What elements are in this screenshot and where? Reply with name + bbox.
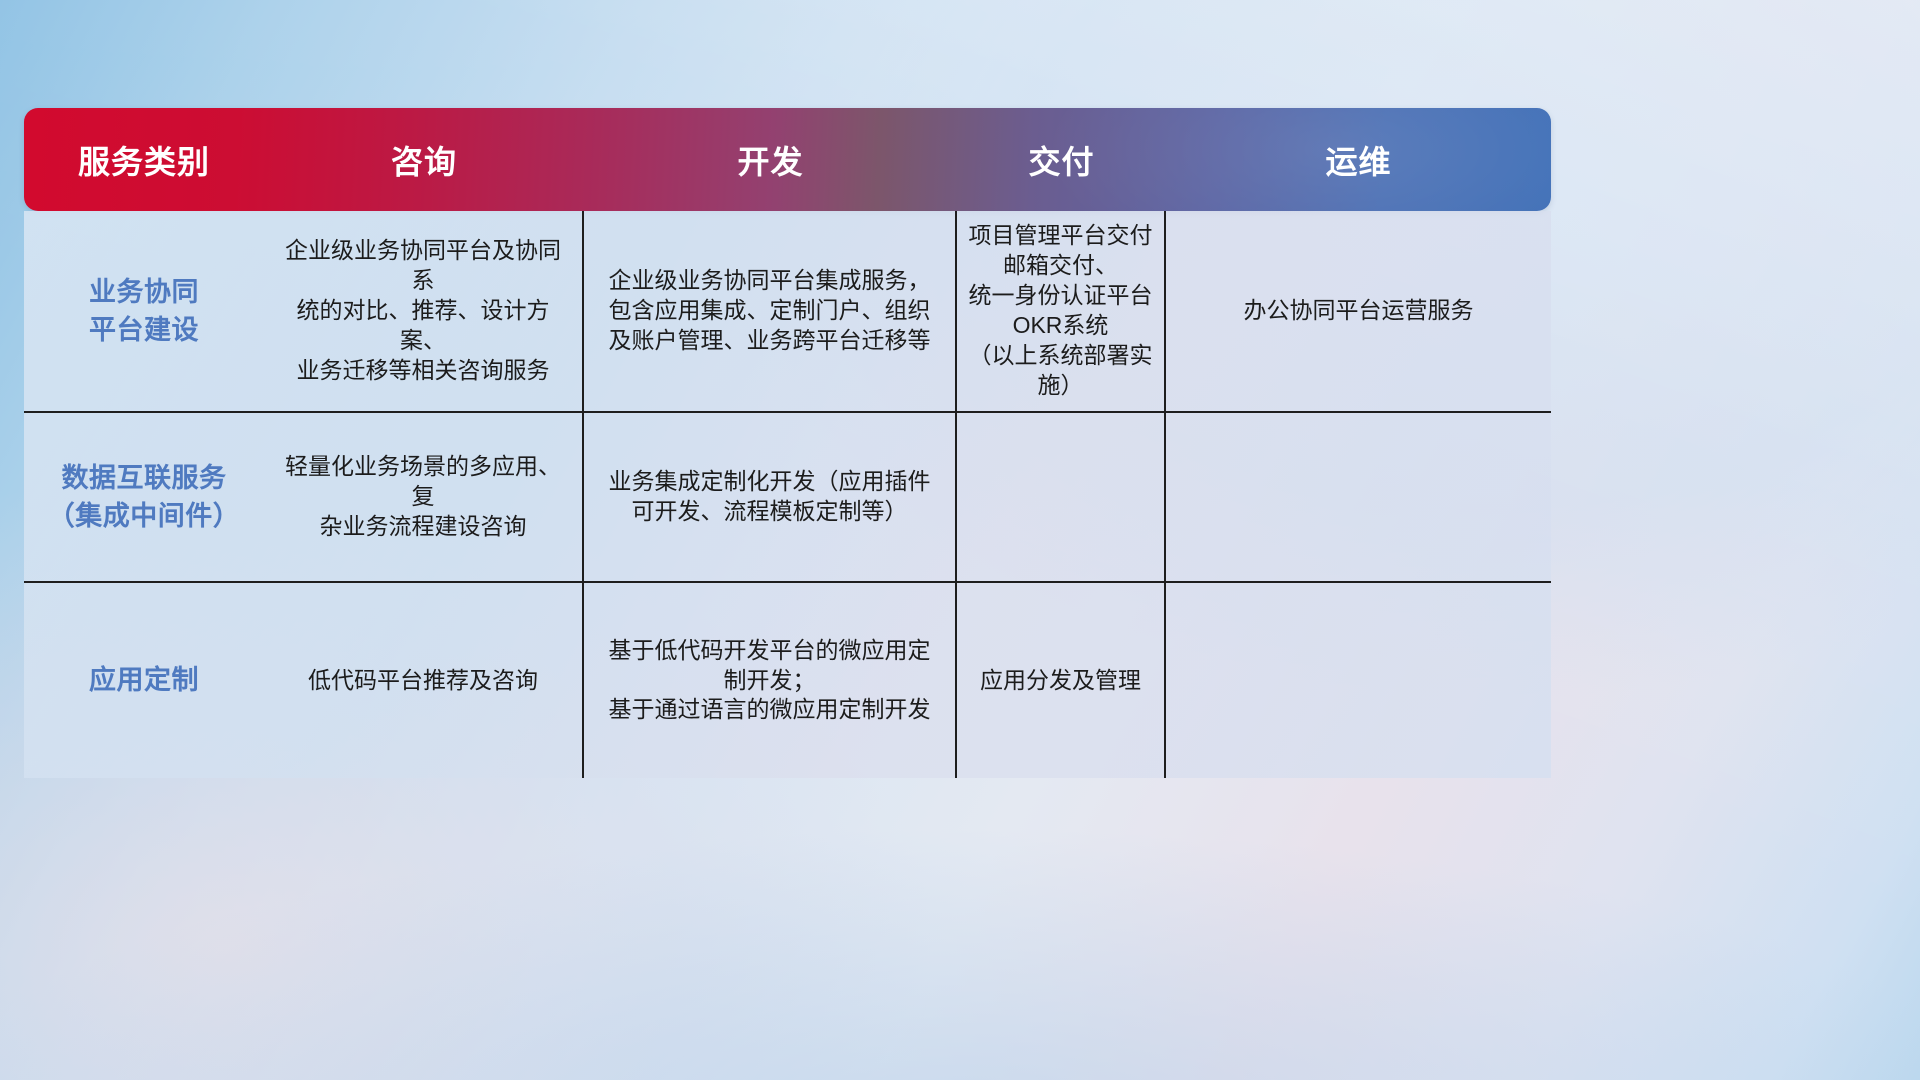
header-cell-service-category: 服务类别 — [24, 137, 264, 183]
table-header-row: 服务类别 咨询 开发 交付 运维 — [24, 108, 1551, 211]
row-label-data-interconnect: 数据互联服务 （集成中间件） — [24, 413, 264, 581]
header-cell-operations: 运维 — [1166, 137, 1551, 183]
row-label-app-customization: 应用定制 — [24, 583, 264, 778]
cell-r1-development: 业务集成定制化开发（应用插件 可开发、流程模板定制等） — [584, 413, 957, 581]
header-cell-consulting: 咨询 — [264, 137, 584, 183]
cell-r2-development: 基于低代码开发平台的微应用定 制开发； 基于通过语言的微应用定制开发 — [584, 583, 957, 778]
cell-r0-operations: 办公协同平台运营服务 — [1166, 211, 1551, 411]
cell-r2-operations — [1166, 583, 1551, 778]
table-row: 应用定制 低代码平台推荐及咨询 基于低代码开发平台的微应用定 制开发； 基于通过… — [24, 583, 1551, 778]
cell-r1-consulting: 轻量化业务场景的多应用、复 杂业务流程建设咨询 — [264, 413, 584, 581]
cell-r0-consulting: 企业级业务协同平台及协同系 统的对比、推荐、设计方案、 业务迁移等相关咨询服务 — [264, 211, 584, 411]
header-cell-development: 开发 — [584, 137, 957, 183]
cell-r2-delivery: 应用分发及管理 — [957, 583, 1166, 778]
header-cell-delivery: 交付 — [957, 137, 1166, 183]
table-row: 数据互联服务 （集成中间件） 轻量化业务场景的多应用、复 杂业务流程建设咨询 业… — [24, 413, 1551, 583]
cell-r1-operations — [1166, 413, 1551, 581]
row-label-business-collaboration: 业务协同 平台建设 — [24, 211, 264, 411]
table-row: 业务协同 平台建设 企业级业务协同平台及协同系 统的对比、推荐、设计方案、 业务… — [24, 211, 1551, 413]
cell-r0-development: 企业级业务协同平台集成服务， 包含应用集成、定制门户、组织 及账户管理、业务跨平… — [584, 211, 957, 411]
table-body: 业务协同 平台建设 企业级业务协同平台及协同系 统的对比、推荐、设计方案、 业务… — [24, 211, 1551, 778]
service-matrix-table: 服务类别 咨询 开发 交付 运维 业务协同 平台建设 企业级业务协同平台及协同系… — [24, 108, 1551, 778]
cell-r1-delivery — [957, 413, 1166, 581]
cell-r2-consulting: 低代码平台推荐及咨询 — [264, 583, 584, 778]
cell-r0-delivery: 项目管理平台交付 邮箱交付、 统一身份认证平台 OKR系统 （以上系统部署实施） — [957, 211, 1166, 411]
